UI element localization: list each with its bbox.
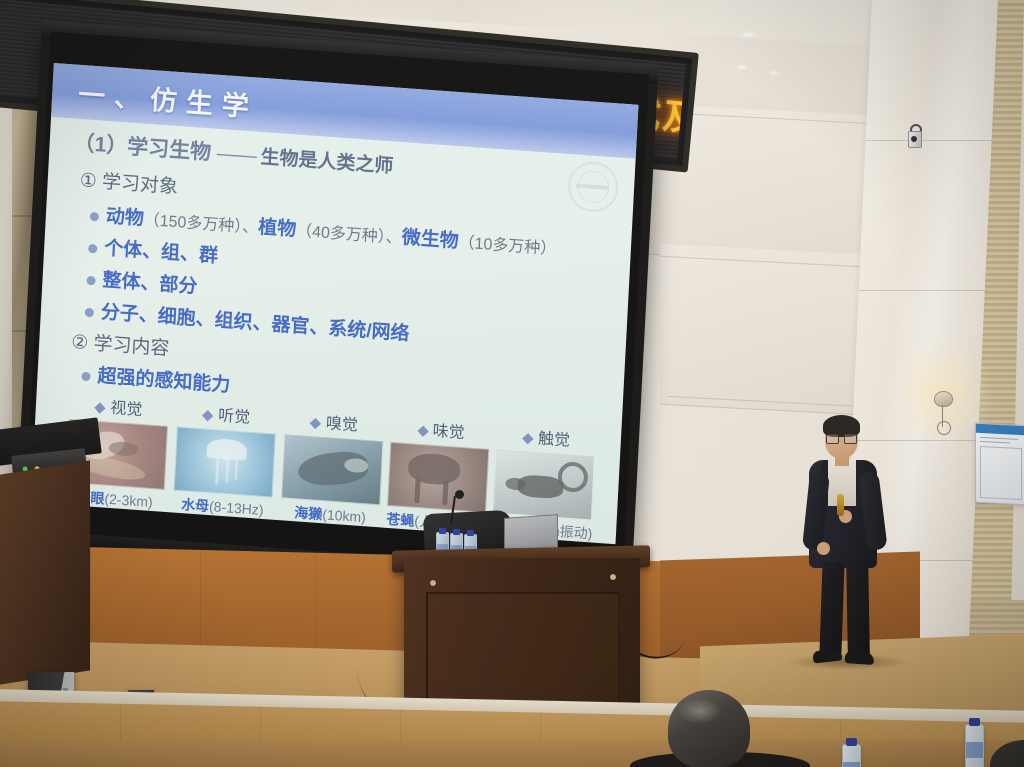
object-note-plant: （40多万种） — [296, 223, 386, 246]
projection-screen: 一、仿生学 （1）学习生物 —— 生物是人类之师 ① 学习对象 动物（150多万… — [15, 22, 659, 585]
front-floor — [0, 740, 1024, 767]
object-term-microbe: 微生物 — [401, 227, 459, 252]
object-note-animal: （150多万种） — [143, 212, 242, 236]
bullet-text-wholepart: 整体、部分 — [102, 270, 198, 298]
section-label: 学习生物 — [127, 135, 212, 164]
security-camera-icon — [906, 124, 922, 146]
eyeglasses-icon — [826, 434, 856, 442]
section-number: （1） — [73, 132, 128, 159]
left-shoe — [812, 649, 842, 664]
sense-label-touch: 触觉 — [496, 422, 597, 453]
control-lectern — [0, 460, 90, 685]
diamond-bullet-icon — [417, 425, 428, 436]
object-note-microbe: （10多万种） — [458, 234, 556, 258]
bullet-dot-icon — [86, 276, 95, 286]
diamond-bullet-icon — [310, 418, 321, 429]
section-dash: —— — [216, 142, 255, 168]
presentation-slide: 一、仿生学 （1）学习生物 —— 生物是人类之师 ① 学习对象 动物（150多万… — [31, 63, 639, 544]
left-leg — [819, 562, 844, 655]
object-term-plant: 植物 — [258, 217, 297, 241]
bullet-dot-icon — [81, 372, 90, 382]
audience-member-head — [668, 690, 750, 767]
senses-row: 视觉 鹰眼(2-3km) 听觉 — [59, 390, 604, 429]
sense-label-smell: 嗅觉 — [285, 406, 385, 437]
speaker-presenter — [795, 418, 895, 668]
water-bottle-foreground — [842, 744, 861, 767]
wall-sconce-light — [928, 385, 956, 411]
section-tagline: 生物是人类之师 — [260, 147, 394, 177]
scorpion-image — [493, 449, 595, 520]
sense-label-hearing: 听觉 — [177, 399, 277, 430]
sense-label-taste: 味觉 — [391, 414, 493, 445]
bullet-dot-icon — [88, 244, 97, 254]
object-term-animal: 动物 — [105, 206, 144, 230]
handheld-microphone — [837, 494, 844, 516]
jellyfish-image — [174, 427, 276, 498]
sense-label-vision: 视觉 — [69, 391, 169, 422]
notice-board — [975, 423, 1024, 506]
university-logo-watermark — [567, 160, 619, 214]
bullet-text-levels: 个体、组、群 — [104, 238, 219, 267]
slide-bullet-levels: 个体、组、群 — [88, 232, 219, 268]
object-sep-2: 、 — [385, 229, 402, 247]
diamond-bullet-icon — [522, 433, 533, 444]
light-reflection — [735, 64, 749, 70]
bullet-dot-icon — [85, 308, 94, 318]
sense-column-smell: 嗅觉 海獭(10km) — [280, 406, 385, 528]
slide-sub-heading-1: ① 学习对象 — [79, 165, 178, 199]
right-leg — [846, 562, 870, 654]
water-bottle-foreground — [965, 724, 984, 767]
fly-image — [387, 442, 489, 513]
diamond-bullet-icon — [202, 410, 213, 421]
podium-front-panel — [426, 592, 620, 704]
otter-image — [281, 434, 383, 505]
diamond-bullet-icon — [95, 402, 106, 413]
slide-bullet-wholepart: 整体、部分 — [86, 264, 198, 299]
left-hand — [817, 542, 830, 555]
bullet-dot-icon — [90, 212, 99, 222]
light-reflection — [768, 70, 780, 76]
light-reflection — [738, 31, 760, 38]
microphone-head-icon — [455, 490, 464, 499]
sense-column-hearing: 听觉 水母(8-13Hz) — [172, 399, 277, 521]
right-shoe — [845, 651, 875, 665]
object-sep-1: 、 — [242, 219, 259, 237]
bullet-text-capability: 超强的感知能力 — [97, 366, 231, 396]
slide-bullet-capability: 超强的感知能力 — [81, 360, 231, 398]
lecture-hall-photo: 仿生科学与工程新工科专业开班仪式及任院士报告会 一、仿生学 （1）学习生物 ——… — [0, 0, 1024, 767]
slide-sub-heading-2: ② 学习内容 — [71, 327, 170, 361]
